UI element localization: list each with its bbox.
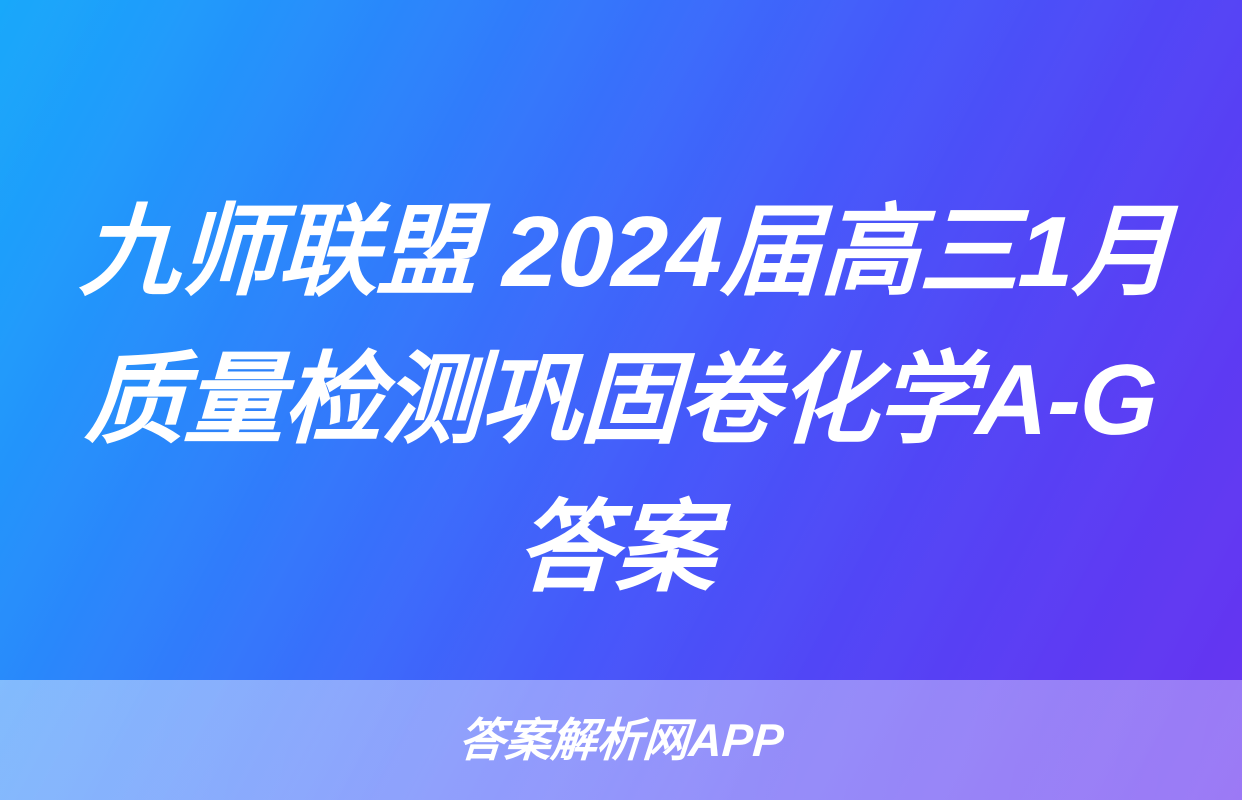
watermark-label: 答案解析网APP — [457, 717, 785, 763]
watermark-band: 答案解析网APP — [0, 680, 1242, 800]
page-title: 九师联盟 2024届高三1月质量检测巩固卷化学A-G答案 — [54, 178, 1188, 622]
poster-canvas: 九师联盟 2024届高三1月质量检测巩固卷化学A-G答案 答案解析网APP — [0, 0, 1242, 800]
